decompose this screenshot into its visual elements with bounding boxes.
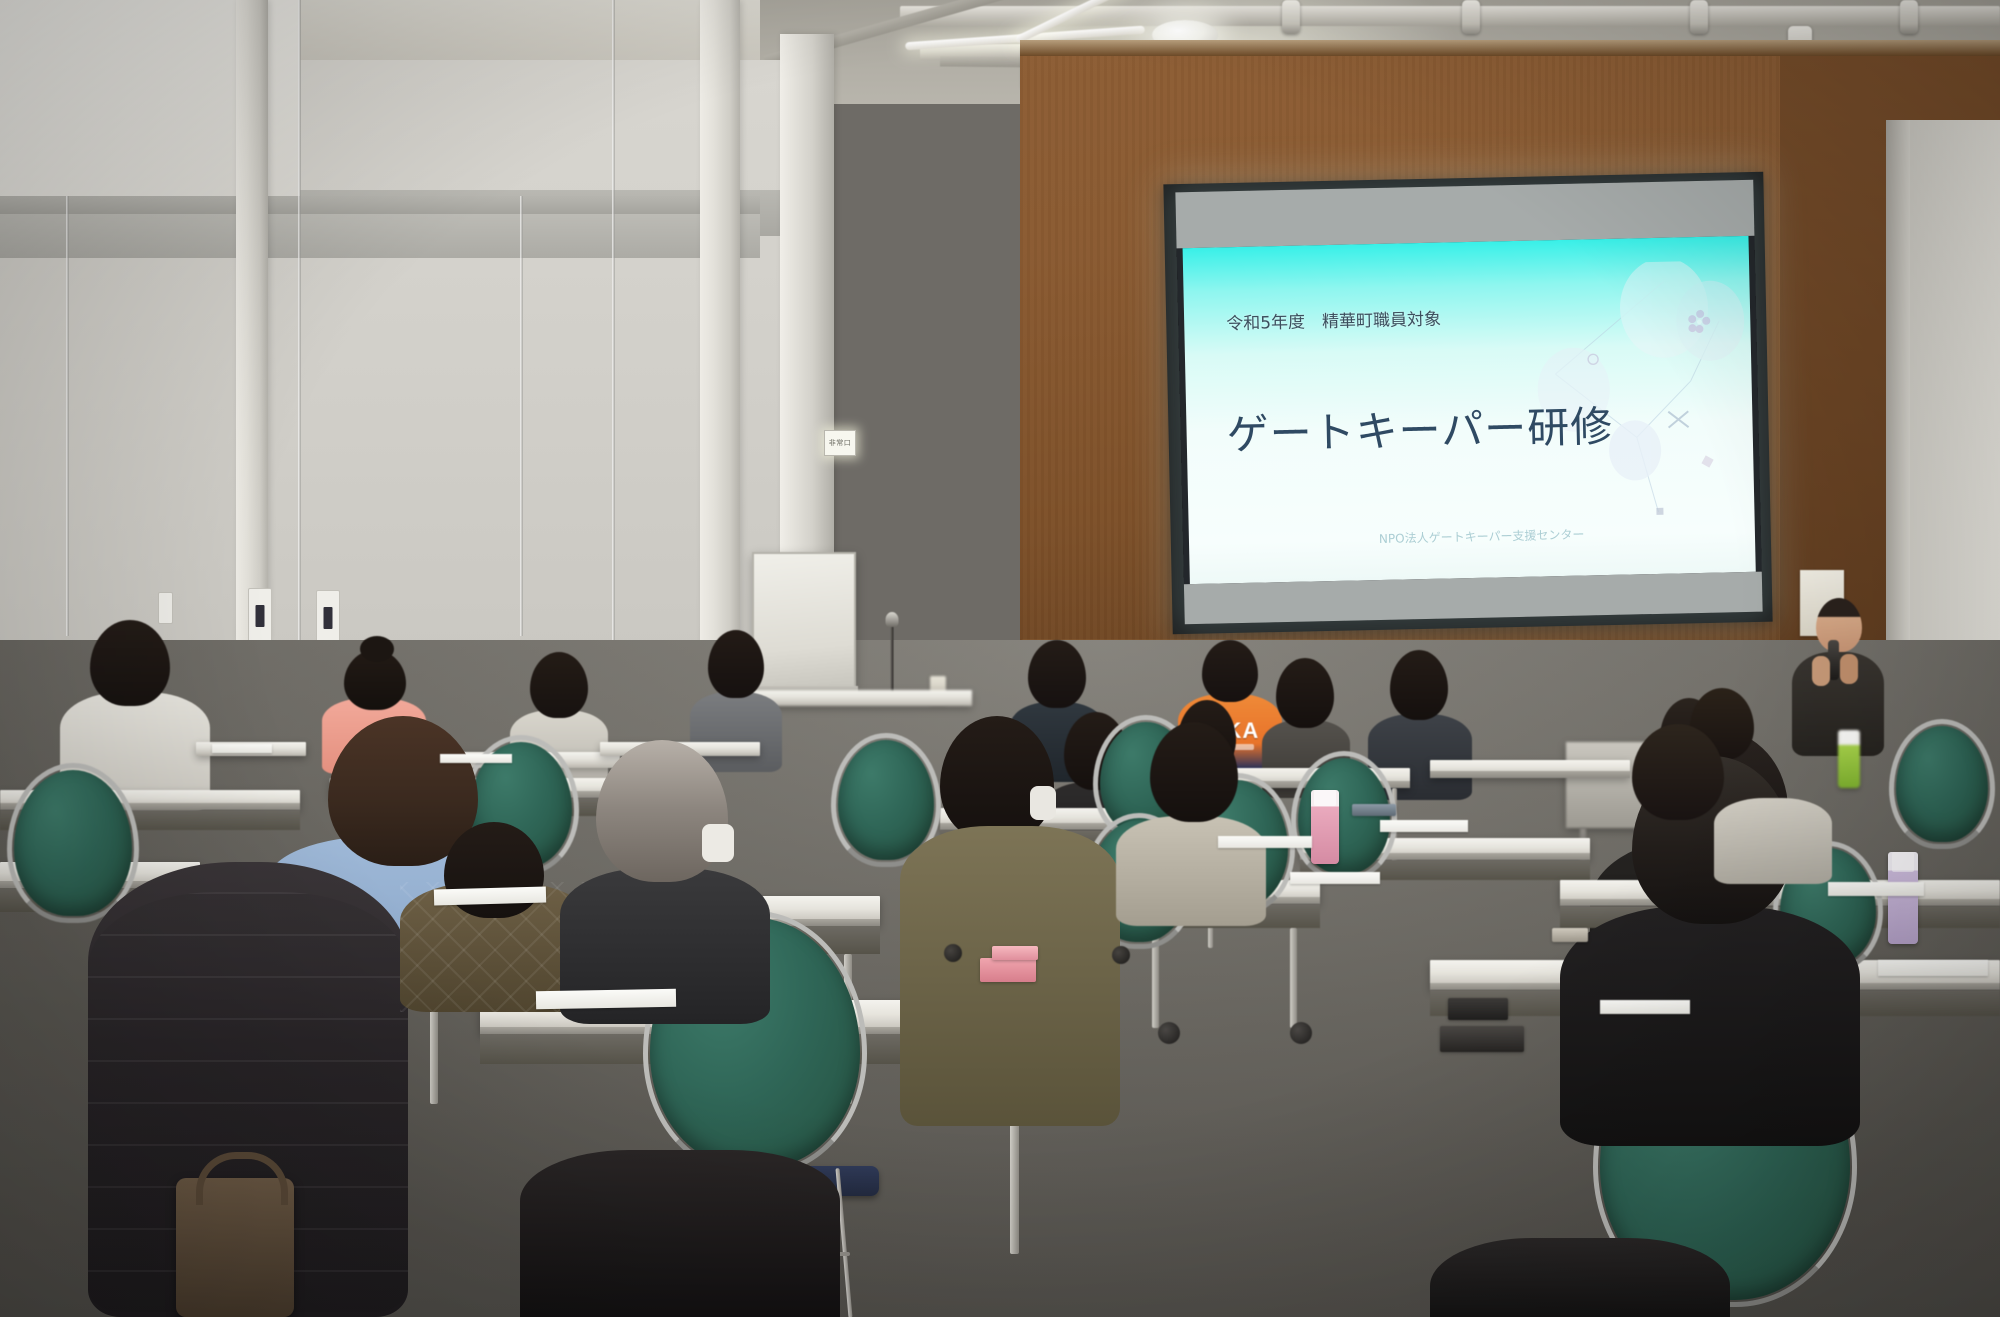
attendee-head — [530, 652, 588, 718]
wall-trim — [0, 196, 760, 214]
ceiling-spotlight — [1462, 0, 1480, 34]
paper-sheet — [1218, 836, 1312, 848]
attendee-head — [1150, 722, 1238, 822]
stage-wall-top-trim — [1020, 40, 2000, 56]
wall-panel-seam — [66, 196, 69, 636]
ceiling-spotlight — [1282, 0, 1300, 34]
attendee-head — [1028, 640, 1086, 708]
paper-sheet — [1380, 820, 1468, 832]
slide-title: ゲートキーパー研修 — [1226, 393, 1614, 462]
microphone-icon — [886, 612, 899, 627]
slide-subtitle: 令和5年度 精華町職員対象 — [1226, 305, 1441, 335]
attendee-head — [1202, 640, 1258, 702]
wall-panel-seam — [520, 196, 523, 636]
attendee — [1714, 758, 1832, 880]
attendee-coat — [520, 1150, 840, 1317]
attendee-silhouette — [520, 1150, 840, 1317]
attendee-coat — [1560, 906, 1860, 1146]
attendee-head — [1390, 650, 1448, 720]
face-mask — [1030, 786, 1056, 820]
chair[interactable] — [1896, 726, 1988, 842]
presenter — [1790, 596, 1886, 752]
attendee-gray-hair — [560, 740, 770, 1020]
presenter-head — [1816, 598, 1862, 652]
bottle-pink — [1311, 790, 1339, 864]
paper-sheet — [1290, 872, 1380, 884]
attendee — [1116, 722, 1266, 922]
exit-sign: 非常口 — [824, 430, 856, 456]
wall-switch-plate[interactable] — [248, 588, 272, 646]
paper-sheet — [440, 754, 512, 763]
attendee-head — [940, 716, 1054, 842]
presenter-hand — [1812, 656, 1830, 686]
attendee-silhouette — [1430, 1238, 1730, 1317]
ceiling-spotlight — [1690, 0, 1708, 34]
paper-sheet — [1878, 960, 1988, 976]
wall-panel-seam — [612, 0, 615, 700]
attendee-head — [1276, 658, 1334, 728]
device-on-desk — [1440, 1026, 1524, 1052]
paper-sheet — [1600, 1000, 1690, 1014]
desk-caster — [1112, 946, 1130, 964]
paper-sheet — [1828, 882, 1924, 896]
presenter-hand — [1840, 654, 1858, 684]
attendee-jacket — [1116, 816, 1266, 926]
item-on-desk — [1552, 928, 1588, 942]
pencil-case-lid — [992, 946, 1038, 960]
ceiling-spotlight — [1900, 0, 1918, 34]
device-on-desk — [1352, 804, 1396, 816]
attendee-head — [90, 620, 170, 706]
exit-sign-label: 非常口 — [829, 438, 852, 448]
wall-column — [700, 0, 740, 700]
wall-band-upper — [0, 214, 760, 258]
desk-leg — [1290, 928, 1297, 1028]
desk-caster — [944, 944, 962, 962]
slide-footer: NPO法人ゲートキーパー支援センター — [1379, 526, 1585, 547]
seminar-room-photo: 非常口 — [0, 0, 2000, 1317]
wall-column — [236, 0, 268, 640]
attendee-head — [1632, 724, 1724, 820]
wall-panel-seam — [298, 0, 301, 700]
slide-content: 令和5年度 精華町職員対象 ゲートキーパー研修 NPO法人ゲートキーパー支援セン… — [1183, 236, 1756, 584]
microphone-stand[interactable] — [884, 622, 900, 700]
device-on-desk — [1448, 998, 1508, 1020]
attendee-head — [708, 630, 764, 698]
face-mask — [702, 824, 734, 862]
projection-screen: 令和5年度 精華町職員対象 ゲートキーパー研修 NPO法人ゲートキーパー支援セン… — [1175, 180, 1762, 625]
paper-sheet — [212, 744, 272, 753]
bottle-lavender — [1888, 852, 1918, 944]
attendee-hair-bun — [360, 636, 394, 662]
paper-sheet — [434, 887, 546, 906]
pencil-case — [980, 958, 1036, 982]
attendee-coat — [1430, 1238, 1730, 1317]
desk-caster — [1158, 1022, 1180, 1044]
right-wall — [1908, 120, 2000, 680]
paper-sheet — [536, 989, 676, 1009]
desk-caster — [1290, 1022, 1312, 1044]
attendee-top — [1714, 798, 1832, 884]
